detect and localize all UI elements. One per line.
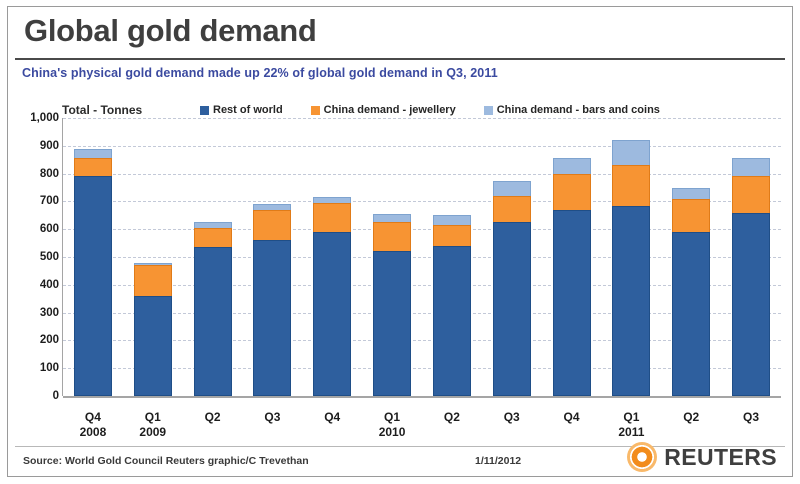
bar-segment-rest-of-world[interactable] xyxy=(553,210,591,396)
x-axis-year xyxy=(482,425,542,440)
y-axis-tick-label: 300 xyxy=(15,307,59,319)
reuters-logo: REUTERS xyxy=(627,442,777,472)
bar-column[interactable] xyxy=(183,118,243,396)
bar-column[interactable] xyxy=(721,118,781,396)
bar-segment-jewellery[interactable] xyxy=(134,265,172,296)
bar-segment-rest-of-world[interactable] xyxy=(373,251,411,396)
legend-label: China demand - jewellery xyxy=(324,104,456,116)
bar-segment-jewellery[interactable] xyxy=(732,176,770,212)
legend-swatch-icon xyxy=(200,106,209,115)
bar-segment-rest-of-world[interactable] xyxy=(433,246,471,396)
x-axis-tick-label: Q2 xyxy=(422,410,482,446)
x-axis-quarter: Q2 xyxy=(683,410,699,424)
bar-segment-rest-of-world[interactable] xyxy=(612,206,650,396)
bar-column[interactable] xyxy=(422,118,482,396)
x-axis-tick-label: Q12011 xyxy=(601,410,661,446)
legend-item-bars_and_coins[interactable]: China demand - bars and coins xyxy=(484,104,660,116)
x-axis-quarter: Q4 xyxy=(564,410,580,424)
bar-segment-jewellery[interactable] xyxy=(433,225,471,246)
x-axis-quarter: Q1 xyxy=(623,410,639,424)
y-axis: 01002003004005006007008009001,000 xyxy=(15,118,59,408)
bar-segment-bars-and-coins[interactable] xyxy=(672,188,710,199)
bar-segment-jewellery[interactable] xyxy=(553,174,591,210)
bar-segment-bars-and-coins[interactable] xyxy=(433,215,471,225)
x-axis-quarter: Q4 xyxy=(324,410,340,424)
footer: Source: World Gold Council Reuters graph… xyxy=(15,447,785,477)
page-title: Global gold demand xyxy=(8,7,778,55)
chart-legend: Rest of worldChina demand - jewelleryChi… xyxy=(200,104,780,116)
legend-item-jewellery[interactable]: China demand - jewellery xyxy=(311,104,456,116)
bar-segment-bars-and-coins[interactable] xyxy=(493,181,531,196)
bar-segment-rest-of-world[interactable] xyxy=(253,240,291,396)
bar-segment-jewellery[interactable] xyxy=(493,196,531,222)
bar-segment-jewellery[interactable] xyxy=(672,199,710,232)
title-bar: Global gold demand xyxy=(8,7,778,55)
x-axis-year xyxy=(422,425,482,440)
y-axis-unit-label: Total - Tonnes xyxy=(62,103,142,117)
x-axis-quarter: Q3 xyxy=(264,410,280,424)
bar-column[interactable] xyxy=(123,118,183,396)
x-axis-year xyxy=(721,425,781,440)
x-axis-tick-label: Q3 xyxy=(482,410,542,446)
bar-segment-bars-and-coins[interactable] xyxy=(612,140,650,165)
x-axis-quarter: Q1 xyxy=(145,410,161,424)
x-axis-quarter: Q3 xyxy=(743,410,759,424)
x-axis-tick-label: Q3 xyxy=(721,410,781,446)
bar-segment-jewellery[interactable] xyxy=(253,210,291,241)
stacked-bar[interactable] xyxy=(74,149,112,396)
bar-segment-bars-and-coins[interactable] xyxy=(373,214,411,222)
stacked-bar[interactable] xyxy=(553,158,591,396)
stacked-bar[interactable] xyxy=(732,158,770,396)
legend-label: China demand - bars and coins xyxy=(497,104,660,116)
bar-segment-jewellery[interactable] xyxy=(373,222,411,251)
bar-segment-rest-of-world[interactable] xyxy=(74,176,112,396)
bar-column[interactable] xyxy=(302,118,362,396)
x-axis-tick-label: Q12009 xyxy=(123,410,183,446)
bar-segment-rest-of-world[interactable] xyxy=(672,232,710,396)
x-axis-year xyxy=(242,425,302,440)
bar-segment-rest-of-world[interactable] xyxy=(732,213,770,396)
y-axis-tick-label: 1,000 xyxy=(15,112,59,124)
y-axis-tick-label: 200 xyxy=(15,334,59,346)
chart-page: Global gold demand China's physical gold… xyxy=(0,0,800,484)
x-axis-year: 2011 xyxy=(601,425,661,440)
x-axis-year xyxy=(183,425,243,440)
x-axis-quarter: Q1 xyxy=(384,410,400,424)
y-axis-tick-label: 400 xyxy=(15,279,59,291)
bar-column[interactable] xyxy=(63,118,123,396)
bar-segment-jewellery[interactable] xyxy=(612,165,650,205)
bar-segment-jewellery[interactable] xyxy=(194,228,232,247)
legend-swatch-icon xyxy=(484,106,493,115)
stacked-bar[interactable] xyxy=(493,181,531,396)
x-axis-year xyxy=(542,425,602,440)
x-axis-tick-label: Q4 xyxy=(302,410,362,446)
x-axis-tick-label: Q3 xyxy=(242,410,302,446)
stacked-bar[interactable] xyxy=(134,263,172,396)
chart-subtitle: China's physical gold demand made up 22%… xyxy=(22,66,498,80)
x-axis-tick-label: Q2 xyxy=(661,410,721,446)
x-axis: Q42008Q12009Q2Q3Q4Q12010Q2Q3Q4Q12011Q2Q3 xyxy=(63,410,781,446)
stacked-bar[interactable] xyxy=(672,188,710,396)
stacked-bar[interactable] xyxy=(433,215,471,396)
y-axis-tick-label: 700 xyxy=(15,195,59,207)
bar-column[interactable] xyxy=(661,118,721,396)
x-axis-tick-label: Q12010 xyxy=(362,410,422,446)
stacked-bar[interactable] xyxy=(313,197,351,396)
x-axis-tick-label: Q42008 xyxy=(63,410,123,446)
legend-swatch-icon xyxy=(311,106,320,115)
bar-column[interactable] xyxy=(242,118,302,396)
stacked-bar[interactable] xyxy=(253,204,291,396)
stacked-bar[interactable] xyxy=(373,214,411,396)
y-axis-tick-label: 100 xyxy=(15,362,59,374)
x-axis-year: 2009 xyxy=(123,425,183,440)
legend-item-rest_of_world[interactable]: Rest of world xyxy=(200,104,283,116)
legend-label: Rest of world xyxy=(213,104,283,116)
reuters-wordmark: REUTERS xyxy=(664,442,777,472)
bar-column[interactable] xyxy=(542,118,602,396)
x-axis-year: 2010 xyxy=(362,425,422,440)
x-axis-quarter: Q2 xyxy=(444,410,460,424)
x-axis-year xyxy=(302,425,362,440)
stacked-bar[interactable] xyxy=(194,222,232,396)
x-axis-year: 2008 xyxy=(63,425,123,440)
y-axis-tick-label: 600 xyxy=(15,223,59,235)
reuters-sun-icon xyxy=(627,442,657,472)
bar-column[interactable] xyxy=(362,118,422,396)
title-divider xyxy=(15,58,785,60)
x-axis-year xyxy=(661,425,721,440)
y-axis-tick-label: 800 xyxy=(15,168,59,180)
bar-column[interactable] xyxy=(482,118,542,396)
x-axis-quarter: Q4 xyxy=(85,410,101,424)
stacked-bar[interactable] xyxy=(612,140,650,396)
plot-area: 01002003004005006007008009001,000 xyxy=(15,118,785,408)
x-axis-quarter: Q2 xyxy=(205,410,221,424)
x-axis-quarter: Q3 xyxy=(504,410,520,424)
x-axis-tick-label: Q2 xyxy=(183,410,243,446)
bar-segment-rest-of-world[interactable] xyxy=(313,232,351,396)
y-axis-tick-label: 0 xyxy=(15,390,59,402)
bar-group xyxy=(63,118,781,396)
bar-segment-bars-and-coins[interactable] xyxy=(74,149,112,159)
publish-date: 1/11/2012 xyxy=(475,455,521,467)
bar-segment-jewellery[interactable] xyxy=(74,158,112,176)
bar-segment-rest-of-world[interactable] xyxy=(134,296,172,396)
bar-segment-bars-and-coins[interactable] xyxy=(732,158,770,176)
bar-column[interactable] xyxy=(601,118,661,396)
x-axis-tick-label: Q4 xyxy=(542,410,602,446)
y-axis-tick-label: 900 xyxy=(15,140,59,152)
bar-segment-bars-and-coins[interactable] xyxy=(553,158,591,173)
plot-canvas xyxy=(63,118,781,398)
source-credit: Source: World Gold Council Reuters graph… xyxy=(23,455,309,467)
bar-segment-rest-of-world[interactable] xyxy=(194,247,232,396)
bar-segment-rest-of-world[interactable] xyxy=(493,222,531,396)
bar-segment-jewellery[interactable] xyxy=(313,203,351,232)
y-axis-tick-label: 500 xyxy=(15,251,59,263)
